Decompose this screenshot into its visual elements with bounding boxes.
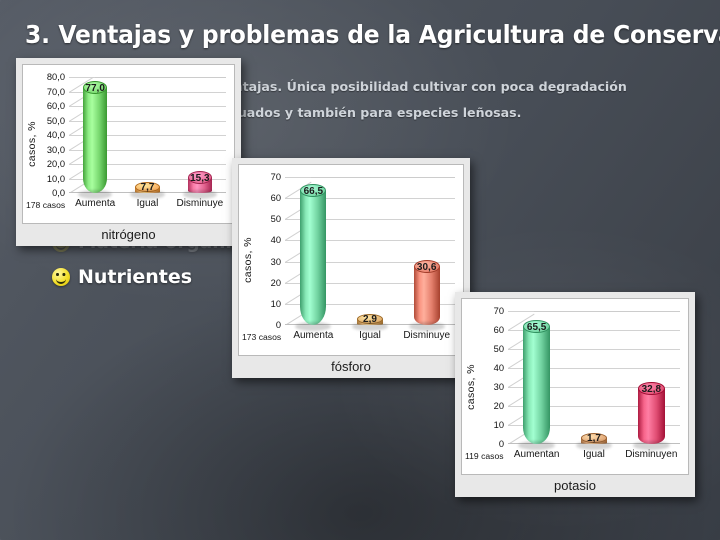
chart-tick-label: 70 xyxy=(271,172,281,182)
chart-value-label: 65,5 xyxy=(523,322,549,333)
plot-area: casos, %70605040302010065,51,732,8Aument… xyxy=(461,298,689,475)
chart-category-label: Igual xyxy=(342,330,399,341)
chart-tick-label: 40,0 xyxy=(47,130,65,140)
chart-value-label: 1,7 xyxy=(581,433,607,444)
chart-value-label: 15,3 xyxy=(188,173,212,184)
chart-tick-label: 60 xyxy=(494,325,504,335)
chart-bar: 65,5 xyxy=(523,320,549,444)
chart-x-title: fósforo xyxy=(238,356,464,378)
chart-bar: 66,5 xyxy=(300,184,326,325)
chart-annotation-cases: 173 casos xyxy=(242,332,281,342)
chart-tick-label: 20 xyxy=(494,401,504,411)
chart-bar: 32,8 xyxy=(638,382,664,444)
chart-tick-label: 50 xyxy=(494,344,504,354)
chart-tick-label: 10,0 xyxy=(47,174,65,184)
chart-tick-label: 10 xyxy=(271,299,281,309)
chart-tick-label: 0,0 xyxy=(52,188,65,198)
bullet-label: Nutrientes xyxy=(78,266,192,288)
chart-category-label: Disminuye xyxy=(398,330,455,341)
chart-bar: 2,9 xyxy=(357,314,383,325)
chart-value-label: 66,5 xyxy=(300,186,326,197)
chart-category-label: Aumentan xyxy=(508,449,565,460)
title-number: 3. xyxy=(25,20,50,49)
chart-tick-label: 50,0 xyxy=(47,116,65,126)
chart-panel-fosforo: casos, %70605040302010066,52,930,6Aument… xyxy=(232,158,470,378)
chart-tick-label: 70,0 xyxy=(47,87,65,97)
page-title: 3.Ventajas y problemas de la Agricultura… xyxy=(25,20,674,49)
chart-tick-label: 70 xyxy=(494,306,504,316)
chart-category-label: Igual xyxy=(565,449,622,460)
chart-category-label: Aumenta xyxy=(285,330,342,341)
chart-bar: 77,0 xyxy=(83,81,107,193)
chart-category-labels: AumentaIgualDisminuye xyxy=(285,327,455,343)
chart-value-label: 32,8 xyxy=(638,384,664,395)
chart-tick-label: 10 xyxy=(494,420,504,430)
chart-tick-label: 40 xyxy=(494,363,504,373)
chart-category-label: Disminuye xyxy=(174,198,226,209)
chart-tick-label: 40 xyxy=(271,235,281,245)
plot-area: casos, %80,070,060,050,040,030,020,010,0… xyxy=(22,64,235,224)
chart-bar: 15,3 xyxy=(188,171,212,193)
chart-tick-label: 20,0 xyxy=(47,159,65,169)
chart-value-label: 77,0 xyxy=(83,83,107,94)
chart-tick-label: 50 xyxy=(271,214,281,224)
chart-tick-label: 60,0 xyxy=(47,101,65,111)
chart-y-ticks: 706050403020100 xyxy=(476,299,506,474)
chart-x-title: potasio xyxy=(461,475,689,497)
chart-category-label: Aumenta xyxy=(69,198,121,209)
title-text: Ventajas y problemas de la Agricultura d… xyxy=(58,20,720,49)
chart-annotation-cases: 119 casos xyxy=(465,451,504,461)
chart-category-labels: AumentanIgualDisminuyen xyxy=(508,446,680,462)
chart-bar: 7,7 xyxy=(135,182,159,193)
chart-tick-label: 60 xyxy=(271,193,281,203)
bullet-item-nutrientes: Nutrientes xyxy=(52,266,192,288)
chart-tick-label: 20 xyxy=(271,278,281,288)
chart-value-label: 2,9 xyxy=(357,314,383,325)
chart-panel-nitrogeno: casos, %80,070,060,050,040,030,020,010,0… xyxy=(16,58,241,246)
chart-panel-potasio: casos, %70605040302010065,51,732,8Aument… xyxy=(455,292,695,497)
plot-area: casos, %70605040302010066,52,930,6Aument… xyxy=(238,164,464,356)
chart-tick-label: 30 xyxy=(494,382,504,392)
chart-tick-label: 80,0 xyxy=(47,72,65,82)
chart-category-labels: AumentaIgualDisminuye xyxy=(69,195,226,211)
chart-value-label: 30,6 xyxy=(414,262,440,273)
chart-bar: 30,6 xyxy=(414,260,440,325)
chart-x-title: nitrógeno xyxy=(22,224,235,246)
chart-tick-label: 0 xyxy=(276,320,281,330)
chart-annotation-cases: 178 casos xyxy=(26,200,65,210)
chart-category-label: Igual xyxy=(121,198,173,209)
chart-y-ticks: 706050403020100 xyxy=(253,165,283,355)
chart-category-label: Disminuyen xyxy=(623,449,680,460)
chart-tick-label: 0 xyxy=(499,439,504,449)
chart-value-label: 7,7 xyxy=(135,182,159,193)
chart-tick-label: 30 xyxy=(271,257,281,267)
chart-tick-label: 30,0 xyxy=(47,145,65,155)
chart-bar: 1,7 xyxy=(581,433,607,444)
smiley-face-icon xyxy=(52,268,70,286)
